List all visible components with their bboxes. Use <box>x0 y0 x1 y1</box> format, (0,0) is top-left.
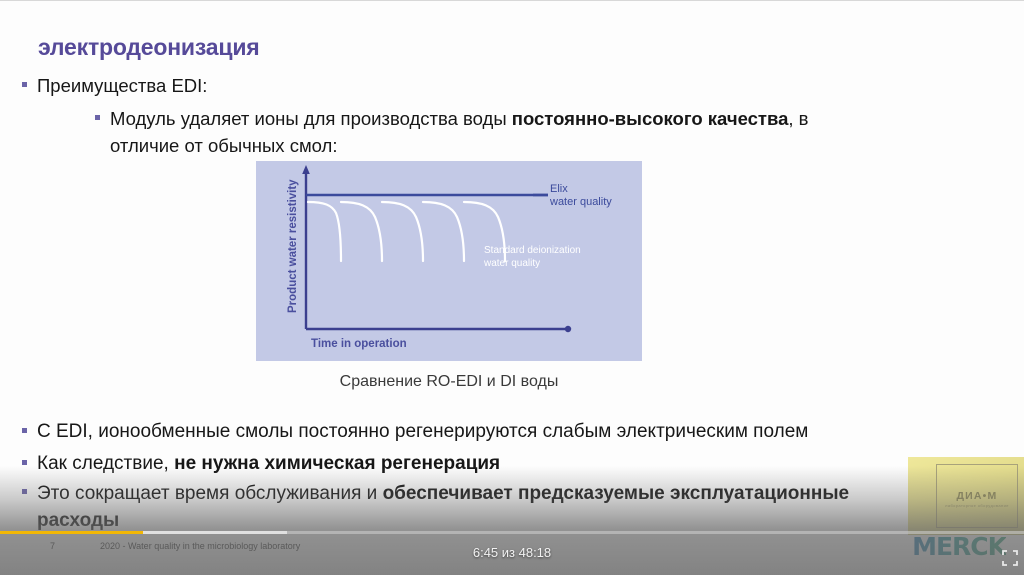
bullet-module-text: Модуль удаляет ионы для производства вод… <box>110 105 855 159</box>
video-player[interactable]: электродеонизация Преимущества EDI: Моду… <box>0 0 1024 575</box>
bullet-marker-icon <box>22 489 27 494</box>
progress-bar-fill <box>0 531 143 534</box>
bullet-edi-resins: С EDI, ионообменные смолы постоянно реге… <box>22 419 982 444</box>
chart-background <box>256 161 642 361</box>
bullet-no-chem-prefix: Как следствие, <box>37 453 174 474</box>
series-elix-label-line2: water quality <box>549 196 612 208</box>
bullet-no-chem-bold: не нужна химическая регенерация <box>174 453 500 474</box>
diam-logo: ДИА•М лабораторное оборудование <box>908 457 1024 535</box>
y-axis-label: Product water resistivity <box>287 179 299 313</box>
series-standard-label-line2: water quality <box>483 258 540 269</box>
progress-bar-track[interactable] <box>0 531 1024 534</box>
bullet-no-chemical-regeneration: Как следствие, не нужна химическая реген… <box>22 451 982 476</box>
page-title: электродеонизация <box>38 34 260 61</box>
bullet-service-prefix: Это сокращает время обслуживания и <box>37 483 383 504</box>
bullet-module-prefix: Модуль удаляет ионы для производства вод… <box>110 108 512 129</box>
comparison-chart: Elix water quality Standard deionization… <box>256 161 642 361</box>
bullet-module-bold: постоянно-высокого качества <box>512 108 789 129</box>
bullet-module: Модуль удаляет ионы для производства вод… <box>95 105 855 159</box>
series-standard-label-line1: Standard deionization <box>484 245 581 256</box>
presentation-slide: электродеонизация Преимущества EDI: Моду… <box>0 0 1024 575</box>
x-axis-endpoint-icon <box>565 326 571 332</box>
chart-svg: Elix water quality Standard deionization… <box>256 161 642 361</box>
diam-logo-frame: ДИА•М лабораторное оборудование <box>936 464 1018 528</box>
bullet-advantages-text: Преимущества EDI: <box>37 73 207 98</box>
x-axis-label: Time in operation <box>311 338 407 350</box>
bullet-advantages: Преимущества EDI: <box>22 73 207 98</box>
bullet-service-time-text: Это сокращает время обслуживания и обесп… <box>37 480 852 534</box>
time-display: 6:45 из 48:18 <box>0 545 1024 560</box>
bullet-marker-icon <box>22 460 27 465</box>
bullet-service-time: Это сокращает время обслуживания и обесп… <box>22 480 852 534</box>
bullet-marker-icon <box>95 115 100 120</box>
figure-caption: Сравнение RO-EDI и DI воды <box>256 373 642 391</box>
diam-logo-subtext: лабораторное оборудование <box>937 503 1017 508</box>
series-elix-label-line1: Elix <box>550 183 568 195</box>
bullet-marker-icon <box>22 82 27 87</box>
bullet-marker-icon <box>22 428 27 433</box>
diam-logo-text: ДИА•М <box>937 490 1017 502</box>
bullet-no-chem-text: Как следствие, не нужна химическая реген… <box>37 451 500 476</box>
bullet-edi-resins-text: С EDI, ионообменные смолы постоянно реге… <box>37 419 808 444</box>
fullscreen-icon[interactable] <box>1000 548 1020 568</box>
